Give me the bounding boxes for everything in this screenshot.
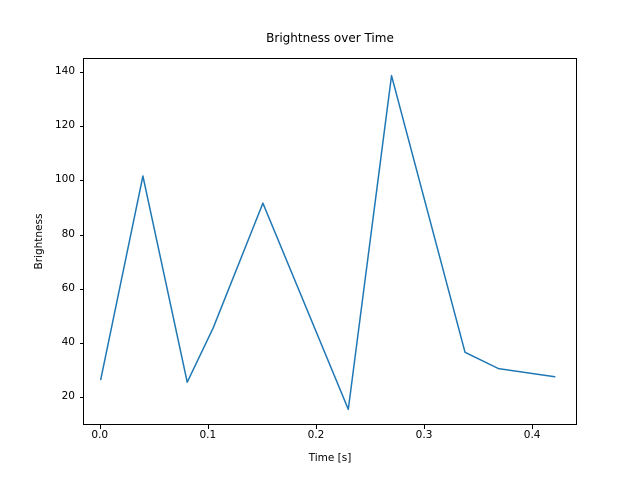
x-axis-label: Time [s] [83,452,577,464]
y-tick-label: 100 [35,173,75,185]
y-tick-label: 120 [35,119,75,131]
y-tick-label: 80 [35,228,75,240]
x-tick-label: 0.0 [70,429,130,441]
y-tick-label: 140 [35,65,75,77]
brightness-line [101,76,555,410]
chart-title: Brightness over Time [83,31,577,45]
y-tick-label: 40 [35,336,75,348]
x-tick-label: 0.1 [178,429,238,441]
matplotlib-figure: Brightness over Time Brightness Time [s]… [0,0,640,480]
y-axis-label: Brightness [33,58,45,425]
x-tick-label: 0.2 [286,429,346,441]
y-tick-label: 60 [35,282,75,294]
y-tick-label: 20 [35,390,75,402]
data-line-svg [84,59,578,426]
x-tick-label: 0.3 [394,429,454,441]
x-tick-label: 0.4 [502,429,562,441]
plot-area [83,58,577,425]
